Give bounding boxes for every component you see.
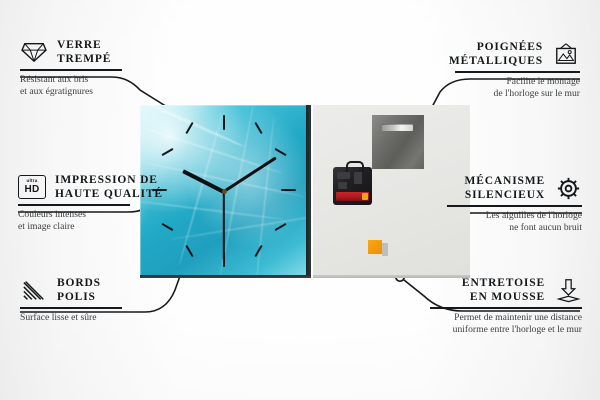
callout-subtitle: Couleurs intenses et image claire xyxy=(18,209,193,233)
badge-hd-label: HD xyxy=(24,185,39,195)
hanger-slot xyxy=(382,124,413,131)
callout-subtitle: Facilite le montage de l'horloge sur le … xyxy=(420,76,580,100)
callout-title: VERRE TREMPÉ xyxy=(57,38,111,66)
foam-spacer-shadow xyxy=(382,243,388,256)
callout-rule xyxy=(447,205,582,207)
ultra-hd-badge-icon: ultra HD xyxy=(18,174,46,200)
callout-poignees-metalliques: POIGNÉES MÉTALLIQUES Facilite le montage… xyxy=(420,40,580,100)
metal-hanger-plate xyxy=(372,115,424,169)
callout-title: BORDS POLIS xyxy=(57,276,101,304)
callout-verre-trempe: VERRE TREMPÉ Résistant aux bris et aux é… xyxy=(20,38,180,98)
clock-mechanism xyxy=(333,167,372,205)
gear-icon xyxy=(554,175,582,201)
battery xyxy=(336,192,369,201)
infographic-canvas: VERRE TREMPÉ Résistant aux bris et aux é… xyxy=(0,0,600,400)
callout-bords-polis: BORDS POLIS Surface lisse et sûre xyxy=(20,276,185,324)
wall-mount-frame-icon xyxy=(552,41,580,67)
mechanism-detail xyxy=(338,182,347,189)
callout-mecanisme-silencieux: MÉCANISME SILENCIEUX Les aiguilles de l'… xyxy=(420,174,582,234)
callout-title: POIGNÉES MÉTALLIQUES xyxy=(449,40,543,68)
foam-spacer-arrow-icon xyxy=(554,277,582,303)
battery-terminal xyxy=(362,193,368,200)
callout-rule xyxy=(20,307,122,309)
callout-title: MÉCANISME SILENCIEUX xyxy=(465,174,546,202)
callout-rule xyxy=(20,69,122,71)
hour-tick xyxy=(281,189,296,191)
callout-rule xyxy=(455,71,580,73)
callout-impression-haute-qualite: ultra HD IMPRESSION DE HAUTE QUALITÉ Cou… xyxy=(18,173,193,233)
callout-title: IMPRESSION DE HAUTE QUALITÉ xyxy=(55,173,163,201)
foam-spacer xyxy=(368,240,382,254)
mechanism-hook xyxy=(346,161,364,172)
callout-subtitle: Résistant aux bris et aux égratignures xyxy=(20,74,180,98)
callout-subtitle: Permet de maintenir une distance uniform… xyxy=(410,312,582,336)
callout-title: ENTRETOISE EN MOUSSE xyxy=(462,276,545,304)
hour-tick xyxy=(223,115,225,130)
mechanism-detail xyxy=(354,172,362,184)
mechanism-detail xyxy=(337,172,350,179)
callout-subtitle: Les aiguilles de l'horloge ne font aucun… xyxy=(420,210,582,234)
clock-hands-pivot xyxy=(222,189,227,194)
clock-glass-edge xyxy=(306,105,311,277)
callout-subtitle: Surface lisse et sûre xyxy=(20,312,185,324)
callout-rule xyxy=(18,204,130,206)
callout-entretoise-en-mousse: ENTRETOISE EN MOUSSE Permet de maintenir… xyxy=(410,276,582,336)
callout-rule xyxy=(430,307,582,309)
polished-edges-icon xyxy=(20,277,48,303)
diamond-icon xyxy=(20,39,48,65)
hour-tick xyxy=(161,148,173,156)
second-hand xyxy=(223,192,225,260)
hour-tick xyxy=(185,245,193,257)
